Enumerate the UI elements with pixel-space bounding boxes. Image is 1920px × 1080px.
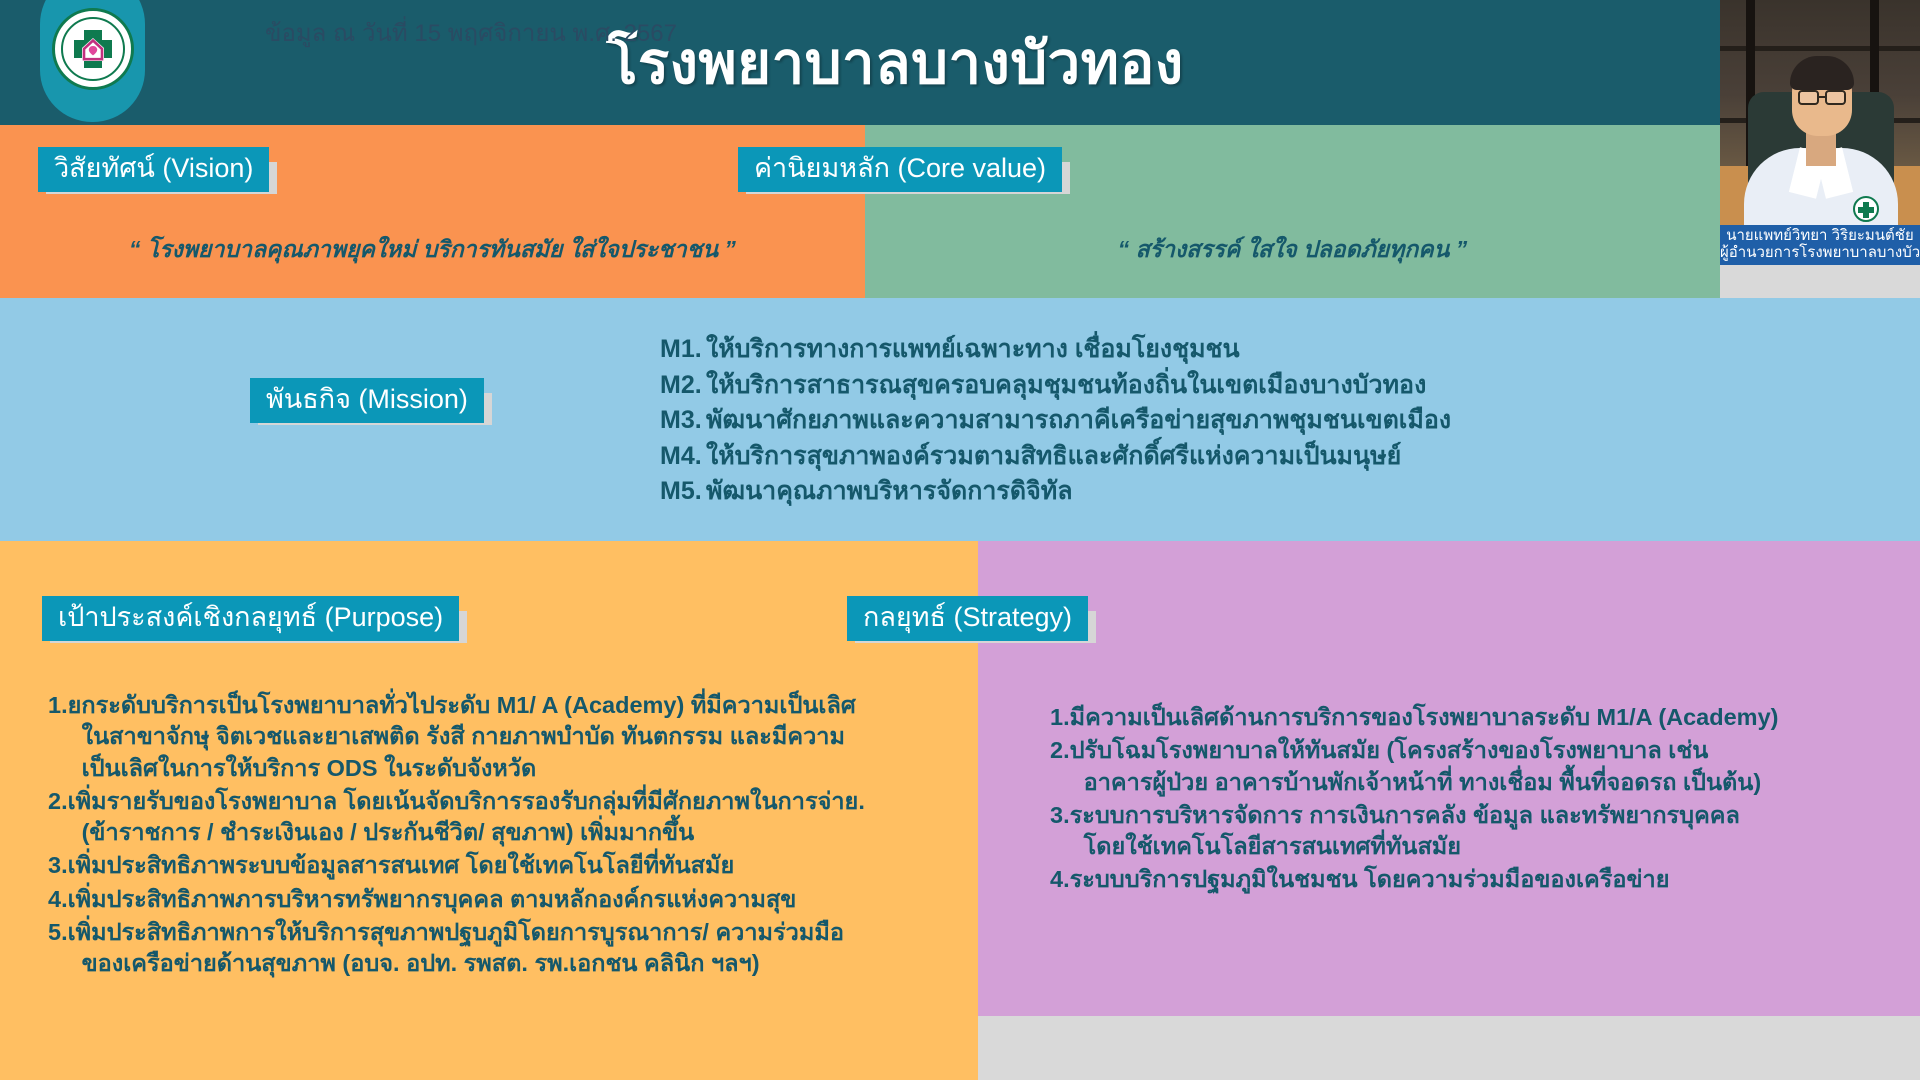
purpose-item-line: เป็นเลิศในการให้บริการ ODS ในระดับจังหวั…	[68, 753, 958, 784]
core-value-quote: “ สร้างสรรค์ ใสใจ ปลอดภัยทุกคน ”	[865, 232, 1720, 268]
mission-item-text: ให้บริการทางการแพทย์เฉพาะทาง เชื่อมโยงชุ…	[706, 335, 1240, 363]
strategy-label: กลยุทธ์ (Strategy)	[847, 596, 1088, 641]
strategy-item-line: ระบบบริการปฐมภูมิในชมชน โดยความร่วมมือขอ…	[1070, 864, 1910, 895]
strategy-item-text: ระบบการบริหารจัดการ การเงินการคลัง ข้อมู…	[1070, 800, 1910, 863]
glasses-bridge	[1819, 96, 1825, 98]
uniform-emblem-icon	[1853, 196, 1879, 222]
vision-label-tag: วิสัยทัศน์ (Vision)	[38, 152, 269, 184]
purpose-item-number: 1.	[48, 690, 68, 784]
strategy-item: 1.มีความเป็นเลิศด้านการบริการของโรงพยาบา…	[1050, 702, 1910, 733]
glasses-icon	[1798, 90, 1819, 105]
strategy-item: 2.ปรับโฉมโรงพยาบาลให้ทันสมัย (โครงสร้างข…	[1050, 735, 1910, 798]
strategy-item-line: ปรับโฉมโรงพยาบาลให้ทันสมัย (โครงสร้างของ…	[1070, 735, 1910, 766]
director-position: ผู้อำนวยการโรงพยาบาลบางบัวทอง	[1720, 244, 1920, 262]
purpose-item-line: ในสาขาจักษุ จิตเวชและยาเสพติด รังสี กายภ…	[68, 721, 958, 752]
purpose-label-tag: เป้าประสงค์เชิงกลยุทธ์ (Purpose)	[42, 601, 459, 633]
purpose-item-line: ของเครือข่ายด้านสุขภาพ (อบจ. อปท. รพสต. …	[68, 948, 958, 979]
strategy-item-line: อาคารผู้ป่วย อาคารบ้านพักเจ้าหน้าที่ ทาง…	[1070, 767, 1910, 798]
purpose-item-text: ยกระดับบริการเป็นโรงพยาบาลทั่วไประดับ M1…	[68, 690, 958, 784]
purpose-item-text: เพิ่มประสิทธิภาพระบบข้อมูลสารสนเทศ โดยใช…	[68, 850, 958, 881]
mission-item-code: M1.	[660, 332, 706, 368]
strategy-item: 3.ระบบการบริหารจัดการ การเงินการคลัง ข้อ…	[1050, 800, 1910, 863]
strategy-item-number: 4.	[1050, 864, 1070, 895]
core-value-label: ค่านิยมหลัก (Core value)	[738, 147, 1062, 192]
strategy-item-text: ระบบบริการปฐมภูมิในชมชน โดยความร่วมมือขอ…	[1070, 864, 1910, 895]
mission-label-tag: พันธกิจ (Mission)	[250, 383, 484, 415]
purpose-item: 1.ยกระดับบริการเป็นโรงพยาบาลทั่วไประดับ …	[48, 690, 958, 784]
footer-bar	[978, 1016, 1920, 1080]
mission-item-text: พัฒนาคุณภาพบริหารจัดการดิจิทัล	[706, 477, 1073, 505]
mission-item-code: M3.	[660, 403, 706, 439]
purpose-label: เป้าประสงค์เชิงกลยุทธ์ (Purpose)	[42, 596, 459, 641]
purpose-list: 1.ยกระดับบริการเป็นโรงพยาบาลทั่วไประดับ …	[48, 690, 958, 981]
strategy-item-line: โดยใช้เทคโนโลยีสารสนเทศที่ทันสมัย	[1070, 831, 1910, 862]
strategy-item-number: 1.	[1050, 702, 1070, 733]
purpose-item: 2.เพิ่มรายรับของโรงพยาบาล โดยเน้นจัดบริก…	[48, 786, 958, 849]
purpose-item-text: เพิ่มประสิทธิภาพภารบริหารทรัพยากรบุคคล ต…	[68, 884, 958, 915]
strategy-item-line: มีความเป็นเลิศด้านการบริการของโรงพยาบาลร…	[1070, 702, 1910, 733]
vision-label: วิสัยทัศน์ (Vision)	[38, 147, 269, 192]
strategy-item-number: 3.	[1050, 800, 1070, 863]
strategy-item-text: ปรับโฉมโรงพยาบาลให้ทันสมัย (โครงสร้างของ…	[1070, 735, 1910, 798]
purpose-item: 5.เพิ่มประสิทธิภาพการให้บริการสุขภาพปฐบภ…	[48, 917, 958, 980]
strategy-list: 1.มีความเป็นเลิศด้านการบริการของโรงพยาบา…	[1050, 702, 1910, 898]
mission-item: M3.พัฒนาศักยภาพและความสามารถภาคีเครือข่า…	[660, 403, 1760, 439]
purpose-item-line: เพิ่มประสิทธิภาพระบบข้อมูลสารสนเทศ โดยใช…	[68, 850, 958, 881]
strategy-item: 4.ระบบบริการปฐมภูมิในชมชน โดยความร่วมมือ…	[1050, 864, 1910, 895]
purpose-item-line: (ข้าราชการ / ชำระเงินเอง / ประกันชีวิต/ …	[68, 817, 958, 848]
vision-quote: “ โรงพยาบาลคุณภาพยุคใหม่ บริการทันสมัย ใ…	[0, 232, 865, 268]
purpose-item-line: เพิ่มรายรับของโรงพยาบาล โดยเน้นจัดบริการ…	[68, 786, 958, 817]
mission-item-text: พัฒนาศักยภาพและความสามารถภาคีเครือข่ายสุ…	[706, 406, 1451, 434]
director-name: นายแพทย์วิทยา วิริยะมนต์ชัย	[1720, 227, 1920, 245]
purpose-item-text: เพิ่มประสิทธิภาพการให้บริการสุขภาพปฐบภูม…	[68, 917, 958, 980]
purpose-item-line: เพิ่มประสิทธิภาพภารบริหารทรัพยากรบุคคล ต…	[68, 884, 958, 915]
core-value-label-tag: ค่านิยมหลัก (Core value)	[738, 152, 1062, 184]
purpose-item-number: 3.	[48, 850, 68, 881]
glasses-icon	[1825, 90, 1846, 105]
purpose-item: 3.เพิ่มประสิทธิภาพระบบข้อมูลสารสนเทศ โดย…	[48, 850, 958, 881]
purpose-item-number: 2.	[48, 786, 68, 849]
strategy-item-text: มีความเป็นเลิศด้านการบริการของโรงพยาบาลร…	[1070, 702, 1910, 733]
strategy-item-number: 2.	[1050, 735, 1070, 798]
strategy-item-line: ระบบการบริหารจัดการ การเงินการคลัง ข้อมู…	[1070, 800, 1910, 831]
portrait-caption: นายแพทย์วิทยา วิริยะมนต์ชัย ผู้อำนวยการโ…	[1720, 225, 1920, 265]
footer-date: ข้อมูล ณ วันที่ 15 พฤศจิกายน พ.ศ. 2567	[0, 0, 942, 64]
mission-item: M2.ให้บริการสาธารณสุขครอบคลุมชุมชนท้องถิ…	[660, 368, 1760, 404]
mission-item-text: ให้บริการสาธารณสุขครอบคลุมชุมชนท้องถิ่นใ…	[706, 371, 1426, 399]
purpose-item-line: เพิ่มประสิทธิภาพการให้บริการสุขภาพปฐบภูม…	[68, 917, 958, 948]
purpose-item-number: 4.	[48, 884, 68, 915]
purpose-item-number: 5.	[48, 917, 68, 980]
mission-item: M4.ให้บริการสุขภาพองค์รวมตามสิทธิและศักด…	[660, 439, 1760, 475]
purpose-item: 4.เพิ่มประสิทธิภาพภารบริหารทรัพยากรบุคคล…	[48, 884, 958, 915]
strategy-poster: โรงพยาบาลบางบัวทอง นายแพทย์วิทยา วิริยะม…	[0, 0, 1920, 1080]
mission-item-code: M2.	[660, 368, 706, 404]
mission-item-text: ให้บริการสุขภาพองค์รวมตามสิทธิและศักดิ์ศ…	[706, 442, 1401, 470]
strategy-label-tag: กลยุทธ์ (Strategy)	[847, 601, 1088, 633]
director-portrait: นายแพทย์วิทยา วิริยะมนต์ชัย ผู้อำนวยการโ…	[1720, 0, 1920, 265]
mission-item: M1.ให้บริการทางการแพทย์เฉพาะทาง เชื่อมโย…	[660, 332, 1760, 368]
purpose-item-line: ยกระดับบริการเป็นโรงพยาบาลทั่วไประดับ M1…	[68, 690, 958, 721]
mission-label: พันธกิจ (Mission)	[250, 378, 484, 423]
mission-item: M5.พัฒนาคุณภาพบริหารจัดการดิจิทัล	[660, 474, 1760, 510]
mission-item-code: M5.	[660, 474, 706, 510]
mission-item-code: M4.	[660, 439, 706, 475]
purpose-item-text: เพิ่มรายรับของโรงพยาบาล โดยเน้นจัดบริการ…	[68, 786, 958, 849]
mission-list: M1.ให้บริการทางการแพทย์เฉพาะทาง เชื่อมโย…	[660, 332, 1760, 510]
